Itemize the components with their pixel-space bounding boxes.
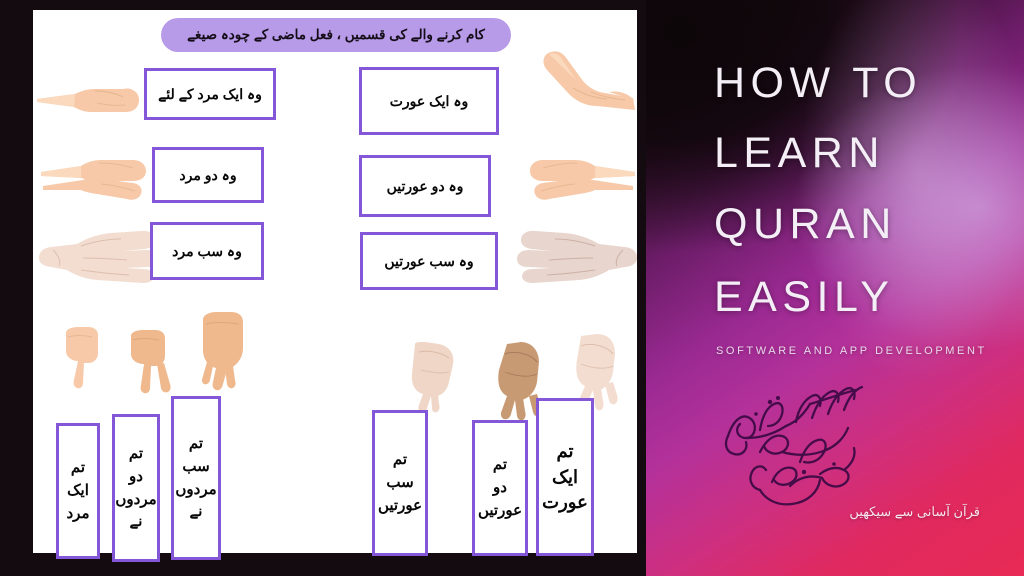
label-box-you-two-women[interactable]: تم دو عورتیں	[472, 420, 528, 556]
pointing-left-hand-icon	[35, 77, 140, 125]
label-line: عورتیں	[478, 503, 522, 519]
shahada-calligraphy-icon	[700, 378, 910, 523]
label-box-you-one-woman[interactable]: تم ایک عورت	[536, 398, 594, 556]
label-box-you-one-man[interactable]: تم ایک مرد	[56, 423, 100, 559]
pointing-down-two-fingers-icon	[123, 330, 173, 396]
pointing-down-one-finger-icon	[58, 327, 100, 389]
label-box-you-all-men[interactable]: تم سب مردوں نے	[171, 396, 221, 560]
promo-urdu-tagline: قرآن آسانی سے سیکھیں	[760, 504, 980, 520]
label-line: سب	[182, 459, 209, 475]
promo-subtitle: SOFTWARE AND APP DEVELOPMENT	[716, 345, 987, 357]
slide-canvas: HOW TO LEARN QURAN EASILY SOFTWARE AND A…	[0, 0, 1024, 576]
promo-title-line-1: HOW TO	[714, 62, 922, 105]
open-palm-left-hand-icon	[37, 218, 163, 286]
lesson-banner: کام کرنے والے کی قسمیں ، فعل ماضی کے چود…	[161, 18, 511, 52]
label-box-he-one-man[interactable]: وہ ایک مرد کے لئے	[144, 68, 276, 120]
lesson-board: کام کرنے والے کی قسمیں ، فعل ماضی کے چود…	[33, 10, 637, 553]
pointing-down-open-hand-icon	[193, 312, 249, 394]
pointing-right-hand-icon	[513, 48, 637, 126]
label-line: مرد	[67, 506, 90, 522]
promo-title-line-3: QURAN	[714, 203, 897, 246]
label-line: مردوں	[175, 482, 216, 498]
label-line: ایک	[552, 468, 578, 487]
label-line: عورتیں	[378, 498, 422, 514]
label-box-she-one-woman[interactable]: وہ ایک عورت	[359, 67, 499, 135]
label-line: عورت	[542, 493, 588, 512]
label-line: دو	[493, 480, 507, 496]
label-line: مردوں	[115, 492, 156, 508]
label-line: نے	[190, 504, 203, 520]
label-line: تم	[189, 436, 203, 452]
label-line: تم	[557, 442, 574, 461]
label-box-he-two-men[interactable]: وہ دو مرد	[152, 147, 264, 203]
label-line: ایک	[67, 483, 89, 499]
label-line: سب	[386, 475, 413, 491]
lesson-banner-text: کام کرنے والے کی قسمیں ، فعل ماضی کے چود…	[187, 27, 485, 43]
label-box-she-two-women[interactable]: وہ دو عورتیں	[359, 155, 491, 217]
label-line: تم	[393, 452, 407, 468]
label-line: نے	[130, 514, 143, 530]
promo-title-line-2: LEARN	[714, 132, 885, 175]
two-fingers-right-hand-icon	[525, 150, 637, 208]
label-box-he-all-men[interactable]: وہ سب مرد	[150, 222, 264, 280]
photo-hand-down-one-icon	[401, 342, 461, 414]
label-line: دو	[129, 469, 143, 485]
label-box-she-all-women[interactable]: وہ سب عورتیں	[360, 232, 498, 290]
two-fingers-left-hand-icon	[39, 150, 149, 208]
open-palm-right-hand-icon	[513, 218, 639, 286]
label-line: تم	[129, 446, 143, 462]
label-box-you-all-women[interactable]: تم سب عورتیں	[372, 410, 428, 556]
label-line: تم	[493, 457, 507, 473]
label-box-you-two-men[interactable]: تم دو مردوں نے	[112, 414, 160, 562]
label-line: تم	[71, 460, 85, 476]
promo-title-line-4: EASILY	[714, 276, 894, 319]
